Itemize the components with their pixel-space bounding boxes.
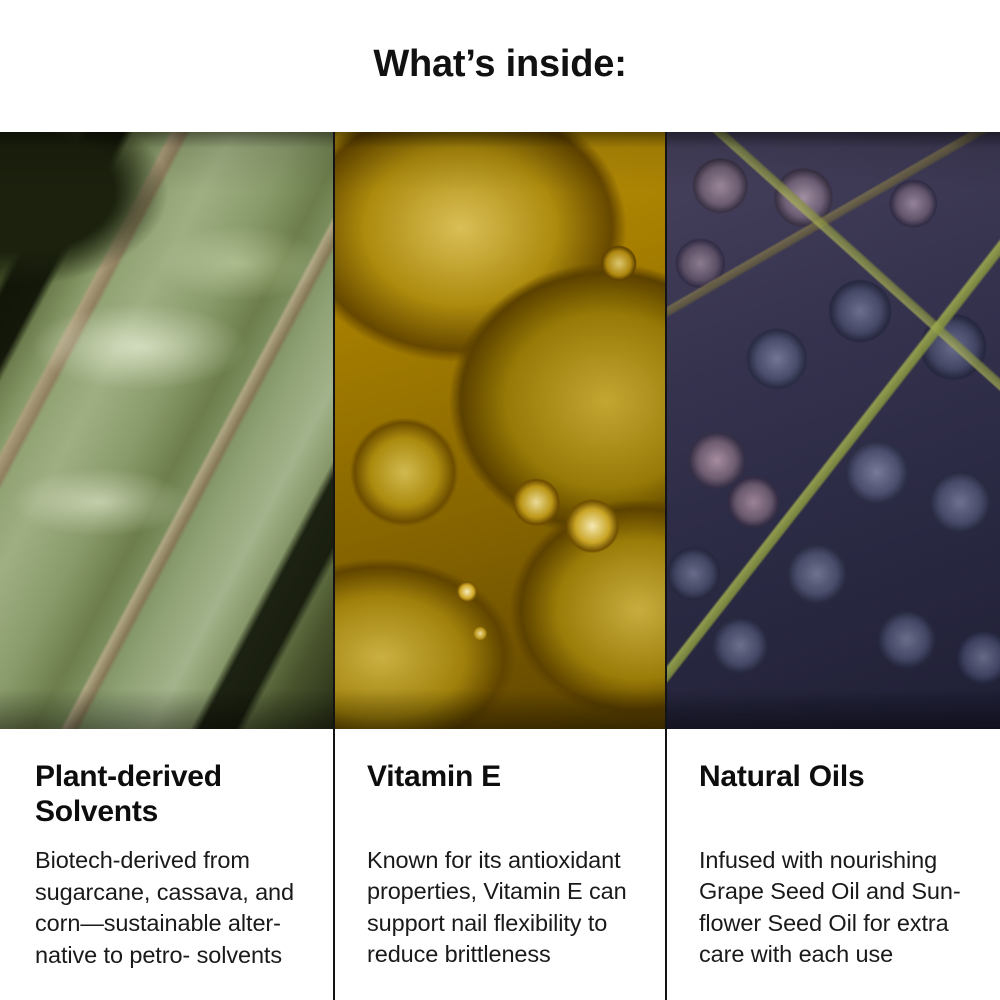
ingredient-card-vitamin-e: Vitamin E Known for its antioxidant prop…	[335, 132, 665, 1000]
header: What’s inside:	[0, 0, 1000, 132]
card-body: Biotech-derived from sugarcane, cassava,…	[35, 845, 303, 971]
caption-block: Natural Oils Infused with nourishing Gra…	[667, 729, 1000, 1000]
dark-grapes-photo	[667, 132, 1000, 729]
ingredients-infographic: What’s inside: Plant-derived Solvents Bi…	[0, 0, 1000, 1000]
page-title: What’s inside:	[373, 45, 626, 87]
card-title: Natural Oils	[699, 759, 974, 829]
ingredient-columns: Plant-derived Solvents Biotech-derived f…	[0, 132, 1000, 1000]
card-body: Infused with nourishing Grape Seed Oil a…	[699, 845, 974, 971]
ingredient-card-natural-oils: Natural Oils Infused with nourishing Gra…	[667, 132, 1000, 1000]
caption-block: Plant-derived Solvents Biotech-derived f…	[0, 729, 333, 1000]
card-title: Plant-derived Solvents	[35, 759, 303, 829]
card-title: Vitamin E	[367, 759, 639, 829]
sugarcane-stalks-photo	[0, 132, 333, 729]
golden-oil-bubbles-photo	[335, 132, 665, 729]
card-body: Known for its antioxidant properties, Vi…	[367, 845, 639, 971]
caption-block: Vitamin E Known for its antioxidant prop…	[335, 729, 665, 1000]
ingredient-card-plant-derived-solvents: Plant-derived Solvents Biotech-derived f…	[0, 132, 333, 1000]
